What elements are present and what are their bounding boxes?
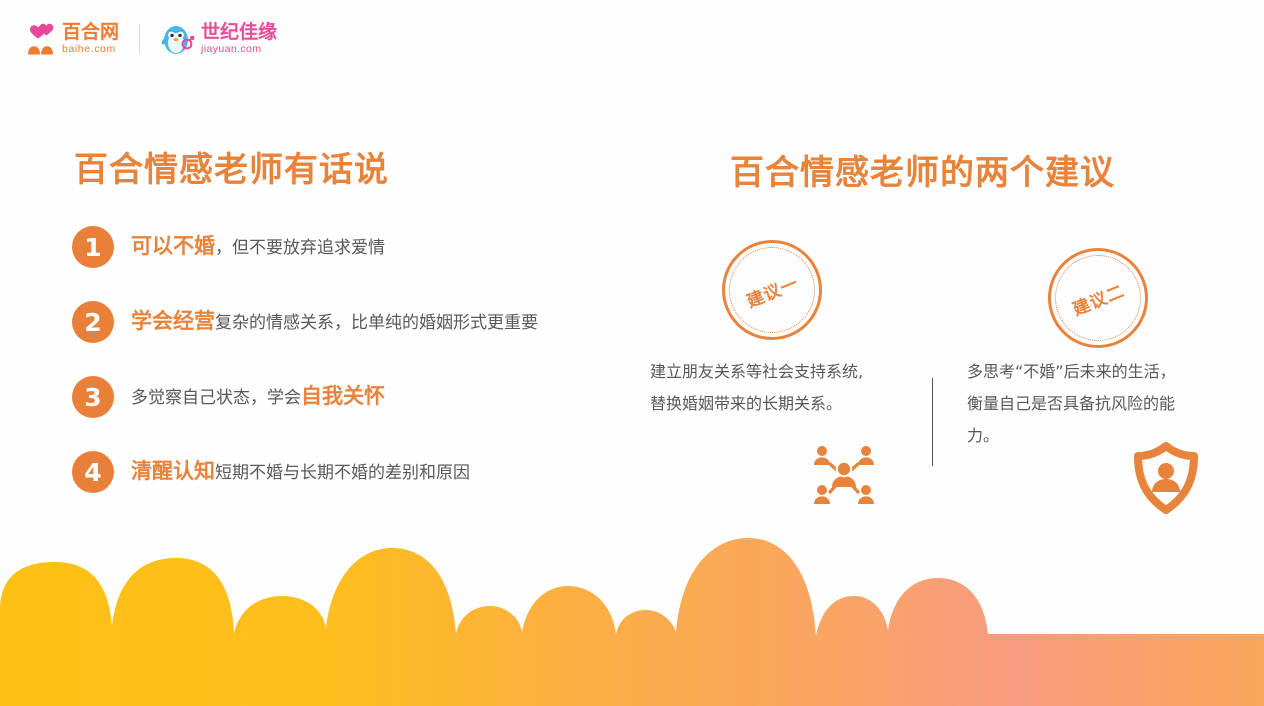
tip-number-badge: 3	[72, 376, 114, 418]
shield-person-icon	[1130, 442, 1202, 514]
suggestion-stamp-two: 建议二	[1048, 248, 1148, 348]
people-network-icon	[808, 442, 880, 508]
suggestion-columns: 建立朋友关系等社会支持系统,替换婚姻带来的长期关系。 多思考“不婚”后未来的生活…	[650, 356, 1240, 452]
advice-list: 1 可以不婚，但不要放弃追求爱情 2 学会经营复杂的情感关系，比单纯的婚姻形式更…	[72, 226, 652, 526]
logo-divider	[139, 24, 140, 54]
tip-text: 清醒认知短期不婚与长期不婚的差别和原因	[131, 460, 470, 483]
jiayuan-name-cn: 世纪佳缘	[201, 23, 277, 42]
baihe-name-cn: 百合网	[62, 23, 119, 42]
jiayuan-name-en: jiayuan.com	[201, 44, 277, 55]
tip-highlight: 自我关怀	[301, 384, 385, 408]
suggestions-block: 建议一 建议二 建立朋友关系等社会支持系统,替换婚姻带来的长期关系。 多思考“不…	[650, 232, 1240, 356]
tip-rest: 多觉察自己状态，学会	[131, 388, 301, 408]
tip-number-badge: 4	[72, 451, 114, 493]
double-heart-icon	[26, 23, 56, 55]
tip-text: 学会经营复杂的情感关系，比单纯的婚姻形式更重要	[131, 310, 538, 333]
brand-logo-bar: 百合网 baihe.com 世纪佳缘 jiayuan.com	[26, 22, 277, 56]
jiayuan-logo[interactable]: 世纪佳缘 jiayuan.com	[160, 22, 277, 56]
list-item: 1 可以不婚，但不要放弃追求爱情	[72, 226, 652, 268]
tip-highlight: 可以不婚	[131, 234, 215, 258]
suggestion-stamp-one: 建议一	[722, 240, 822, 340]
list-item: 3 多觉察自己状态，学会自我关怀	[72, 376, 652, 418]
tip-highlight: 清醒认知	[131, 459, 215, 483]
bottom-decoration-bumps	[0, 530, 1264, 706]
jiayuan-wordmark: 世纪佳缘 jiayuan.com	[201, 23, 277, 55]
penguin-mascot-icon	[160, 22, 196, 56]
stamp-dotted-ring: 建议二	[1055, 255, 1141, 341]
suggestion-text: 多思考“不婚”后未来的生活，衡量自己是否具备抗风险的能力。	[967, 356, 1185, 452]
baihe-name-en: baihe.com	[62, 44, 119, 55]
tip-text: 多觉察自己状态，学会自我关怀	[131, 385, 385, 408]
suggestion-column-one: 建立朋友关系等社会支持系统,替换婚姻带来的长期关系。	[650, 356, 922, 452]
tip-text: 可以不婚，但不要放弃追求爱情	[131, 235, 385, 258]
suggestion-stamps: 建议一 建议二	[650, 232, 1240, 356]
stamp-dotted-ring: 建议一	[729, 247, 815, 333]
tip-rest: 短期不婚与长期不婚的差别和原因	[215, 463, 470, 483]
right-section-title: 百合情感老师的两个建议	[730, 145, 1115, 194]
tip-rest: ，但不要放弃追求爱情	[215, 238, 385, 258]
list-item: 4 清醒认知短期不婚与长期不婚的差别和原因	[72, 451, 652, 493]
tip-number-badge: 2	[72, 301, 114, 343]
column-divider	[932, 378, 933, 466]
left-section-title: 百合情感老师有话说	[74, 142, 389, 191]
slide-canvas: 百合网 baihe.com 世纪佳缘 jiayuan.com	[0, 0, 1264, 706]
list-item: 2 学会经营复杂的情感关系，比单纯的婚姻形式更重要	[72, 301, 652, 343]
stamp-label: 建议一	[742, 268, 801, 311]
tip-number-badge: 1	[72, 226, 114, 268]
suggestion-column-two: 多思考“不婚”后未来的生活，衡量自己是否具备抗风险的能力。	[967, 356, 1239, 452]
tip-rest: 复杂的情感关系，比单纯的婚姻形式更重要	[215, 313, 538, 333]
stamp-label: 建议二	[1068, 276, 1127, 319]
baihe-wordmark: 百合网 baihe.com	[62, 23, 119, 55]
baihe-logo[interactable]: 百合网 baihe.com	[26, 23, 119, 55]
suggestion-text: 建立朋友关系等社会支持系统,替换婚姻带来的长期关系。	[650, 356, 868, 420]
tip-highlight: 学会经营	[131, 309, 215, 333]
